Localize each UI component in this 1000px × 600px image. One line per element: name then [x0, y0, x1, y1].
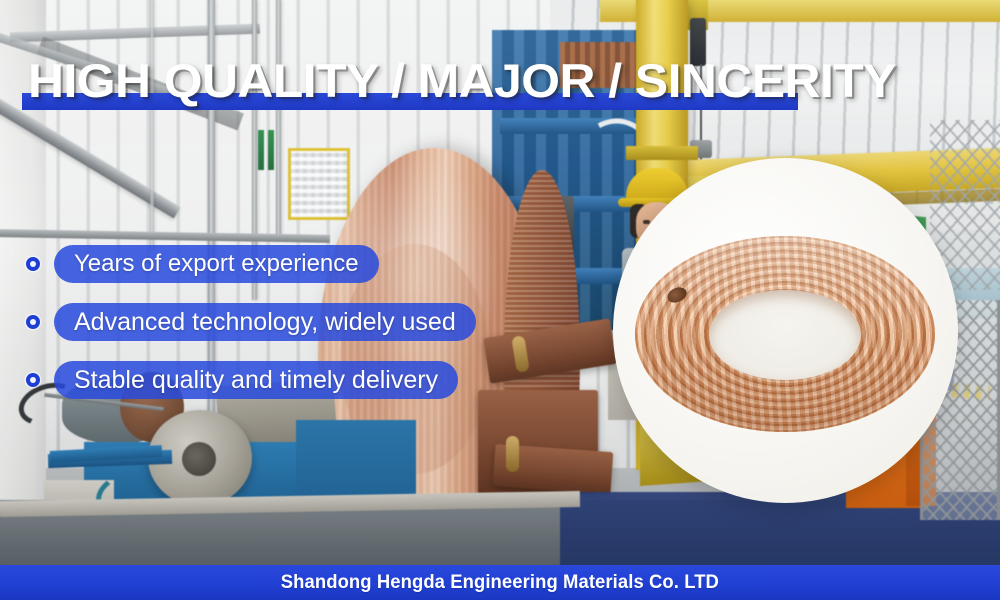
feature-pill-3: Stable quality and timely delivery: [54, 361, 458, 399]
pillar-bracket: [626, 146, 698, 160]
product-inset-circle: [613, 158, 958, 503]
tube-coil-center-hole: [709, 290, 861, 380]
feature-bullet-list: Years of export experience Advanced tech…: [0, 244, 560, 418]
list-item: Stable quality and timely delivery: [0, 360, 560, 400]
page-title: HIGH QUALITY / MAJOR / SINCERITY: [28, 52, 896, 110]
feature-pill-2: Advanced technology, widely used: [54, 303, 476, 341]
company-footer-bar: Shandong Hengda Engineering Materials Co…: [0, 565, 1000, 600]
green-gauge-1: [258, 130, 264, 170]
clamp-slot-lower: [506, 436, 519, 472]
wall-pipe-4: [150, 0, 154, 250]
feature-pill-1: Years of export experience: [54, 245, 379, 283]
promo-banner: HIGH QUALITY / MAJOR / SINCERITY Years o…: [0, 0, 1000, 600]
dot-marker-icon: [26, 315, 40, 329]
company-name: Shandong Hengda Engineering Materials Co…: [281, 572, 719, 594]
list-item: Years of export experience: [0, 244, 560, 284]
headline-block: HIGH QUALITY / MAJOR / SINCERITY: [22, 52, 822, 114]
list-item: Advanced technology, widely used: [0, 302, 560, 342]
dot-marker-icon: [26, 373, 40, 387]
dot-marker-icon: [26, 257, 40, 271]
green-gauge-2: [268, 130, 274, 170]
copper-tube-coil-image: [635, 236, 935, 432]
wall-pipe-3: [276, 0, 281, 240]
